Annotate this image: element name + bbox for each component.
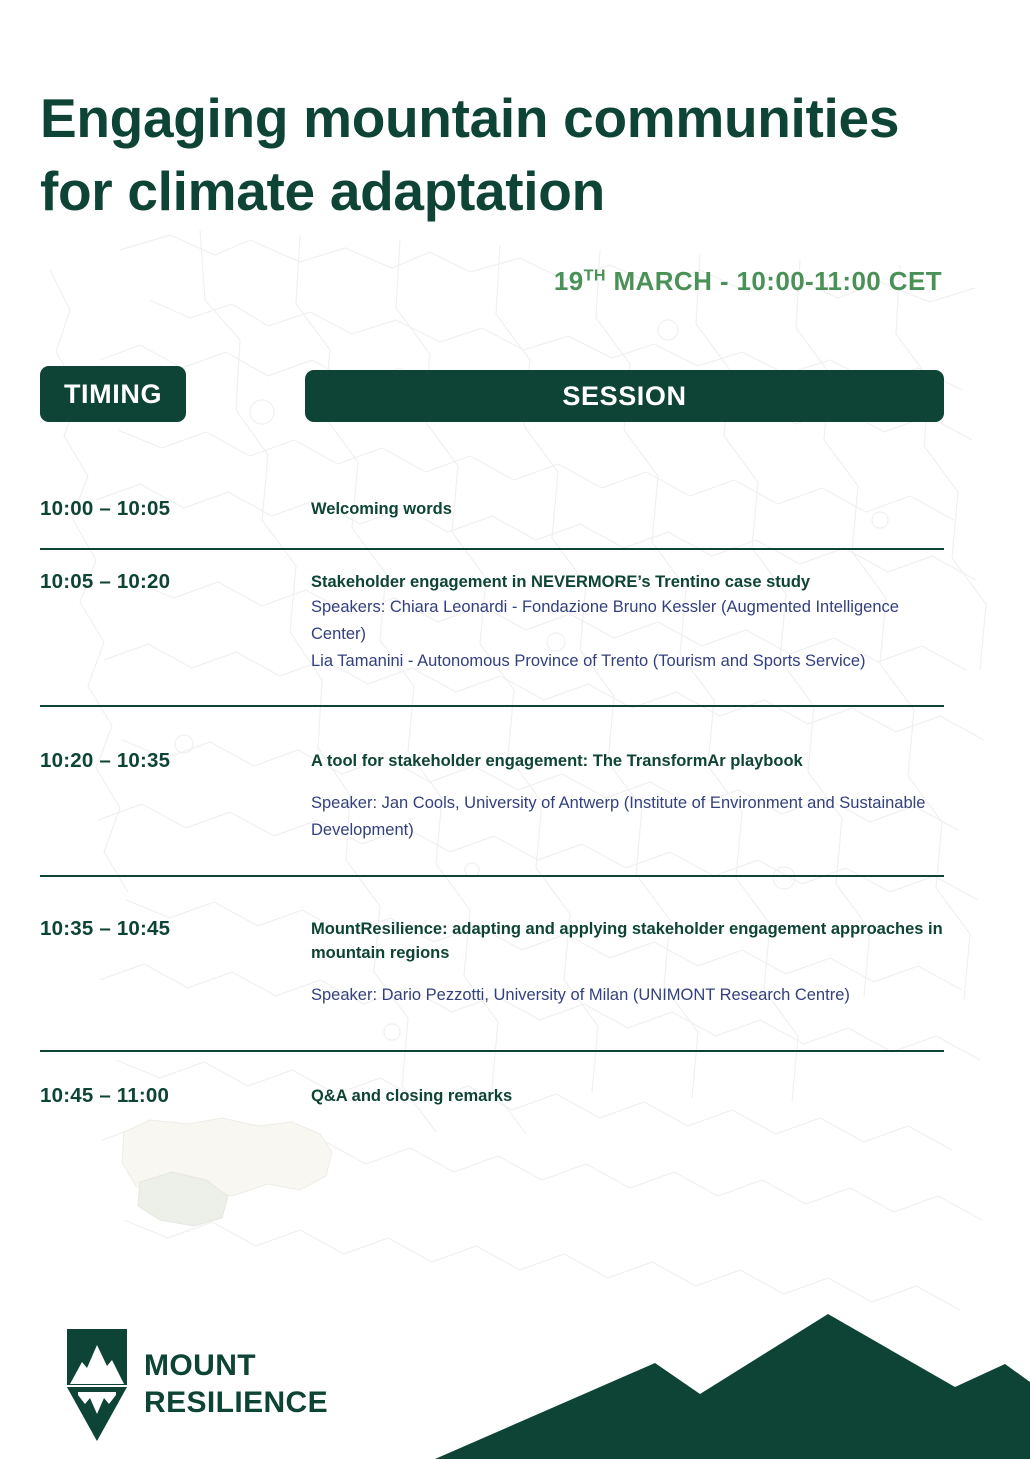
- row-session: MountResilience: adapting and applying s…: [311, 917, 944, 1009]
- event-date-day: 19: [554, 266, 584, 296]
- row-session: A tool for stakeholder engagement: The T…: [311, 749, 944, 844]
- mountain-pennant-icon: [66, 1328, 128, 1442]
- row-time: 10:20 – 10:35: [40, 749, 290, 773]
- event-date-ordinal: TH: [584, 266, 606, 284]
- row-session: Q&A and closing remarks: [311, 1084, 944, 1108]
- session-speaker: Speaker: Jan Cools, University of Antwer…: [311, 790, 944, 843]
- brand-logo-line2: RESILIENCE: [144, 1385, 328, 1422]
- page-title: Engaging mountain communities for climat…: [40, 82, 970, 227]
- event-date: 19TH MARCH - 10:00-11:00 CET: [554, 266, 942, 297]
- column-header-session: SESSION: [305, 370, 944, 422]
- event-date-rest: MARCH - 10:00-11:00 CET: [606, 266, 942, 296]
- row-time: 10:00 – 10:05: [40, 497, 290, 521]
- column-header-timing: TIMING: [40, 366, 186, 422]
- row-time: 10:35 – 10:45: [40, 917, 290, 941]
- session-speaker: Speakers: Chiara Leonardi - Fondazione B…: [311, 594, 944, 647]
- brand-logo-text: MOUNT RESILIENCE: [144, 1348, 328, 1422]
- session-speaker: Lia Tamanini - Autonomous Province of Tr…: [311, 648, 944, 675]
- row-time: 10:05 – 10:20: [40, 570, 290, 594]
- brand-logo-line1: MOUNT: [144, 1348, 328, 1385]
- row-divider: [40, 705, 944, 707]
- poster-page: Engaging mountain communities for climat…: [0, 0, 1030, 1459]
- session-title: Stakeholder engagement in NEVERMORE’s Tr…: [311, 570, 944, 594]
- row-divider: [40, 875, 944, 877]
- session-title: Welcoming words: [311, 497, 944, 521]
- row-session: Stakeholder engagement in NEVERMORE’s Tr…: [311, 570, 944, 674]
- row-divider: [40, 548, 944, 550]
- session-title: Q&A and closing remarks: [311, 1084, 944, 1108]
- session-speaker: Speaker: Dario Pezzotti, University of M…: [311, 982, 944, 1009]
- session-title: A tool for stakeholder engagement: The T…: [311, 749, 944, 773]
- poster-content: Engaging mountain communities for climat…: [0, 0, 1030, 1459]
- brand-logo: MOUNT RESILIENCE: [66, 1325, 356, 1445]
- row-divider: [40, 1050, 944, 1052]
- session-title: MountResilience: adapting and applying s…: [311, 917, 944, 965]
- row-time: 10:45 – 11:00: [40, 1084, 290, 1108]
- row-session: Welcoming words: [311, 497, 944, 521]
